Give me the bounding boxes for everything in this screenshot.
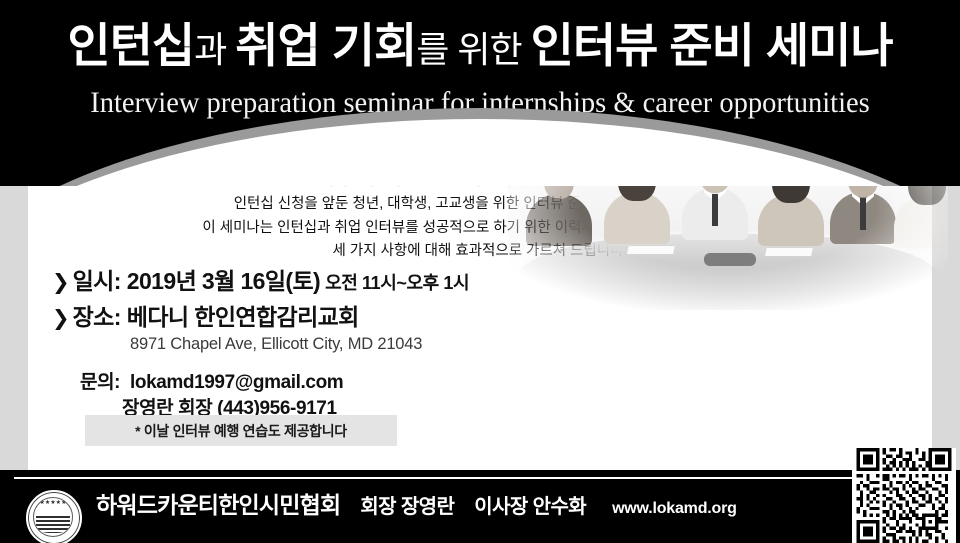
event-date-row: ❯ 일시: 2019년 3월 16일(토) 오전 11시~오후 1시 [52, 262, 522, 296]
contact-email[interactable]: lokamd1997@gmail.com [130, 372, 343, 393]
venue-address: 8971 Chapel Ave, Ellicott City, MD 21043 [130, 335, 522, 354]
footer-text-block: 하워드카운티한인시민협회회장 장영란이사장 안수화www.lokamd.org [96, 486, 737, 520]
seal-ring [28, 492, 80, 543]
place-label: 장소: [73, 298, 121, 332]
footer-organization: 하워드카운티한인시민협회 [96, 492, 340, 518]
person-3-tie [712, 194, 718, 226]
qr-code-svg [852, 448, 956, 543]
title-part-4: 를 위한 [416, 29, 530, 70]
date-label: 일시: [73, 262, 121, 296]
note-box: * 이날 인터뷰 예행 연습도 제공합니다 [85, 415, 397, 446]
chevron-right-icon: ❯ [52, 272, 66, 293]
paper-1 [627, 245, 675, 254]
event-details: ❯ 일시: 2019년 3월 16일(토) 오전 11시~오후 1시 ❯ 장소:… [52, 262, 522, 421]
header-banner: 인턴십과 취업 기회를 위한 인터뷰 준비 세미나 Interview prep… [0, 0, 960, 186]
title-part-2: 과 [194, 29, 235, 70]
contact-block: 문의: lokamd1997@gmail.com 장영란 회장 (443)956… [80, 370, 522, 421]
contact-label: 문의: [80, 372, 120, 393]
note-text: * 이날 인터뷰 예행 연습도 제공합니다 [135, 421, 347, 441]
paper-2 [765, 247, 813, 256]
place-value: 베다니 한인연합감리교회 [127, 298, 359, 332]
qr-code[interactable] [852, 448, 956, 543]
person-1-body [526, 194, 592, 246]
organization-seal-icon: ★★★★★ [26, 490, 82, 543]
seminar-flyer: 인턴십과 취업 기회를 위한 인터뷰 준비 세미나 Interview prep… [0, 0, 960, 543]
footer-president: 회장 장영란 [360, 496, 454, 518]
chevron-right-icon-2: ❯ [52, 308, 66, 329]
person-5-tie [860, 198, 866, 230]
footer-website[interactable]: www.lokamd.org [612, 500, 737, 517]
title-part-5: 인터뷰 준비 세미나 [531, 19, 893, 72]
person-3-body [682, 188, 748, 240]
footer-divider [14, 477, 946, 479]
date-time: 오전 11시~오후 1시 [325, 269, 469, 295]
page-title: 인턴십과 취업 기회를 위한 인터뷰 준비 세미나 [0, 22, 960, 69]
footer-chairman: 이사장 안수화 [474, 496, 586, 518]
event-place-row: ❯ 장소: 베다니 한인연합감리교회 [52, 298, 522, 332]
date-value: 2019년 3월 16일(토) [127, 262, 320, 296]
conference-phone-icon [704, 253, 756, 266]
person-5-body [830, 192, 896, 244]
title-part-3: 취업 기회 [235, 19, 416, 72]
title-part-1: 인턴십 [67, 19, 194, 72]
